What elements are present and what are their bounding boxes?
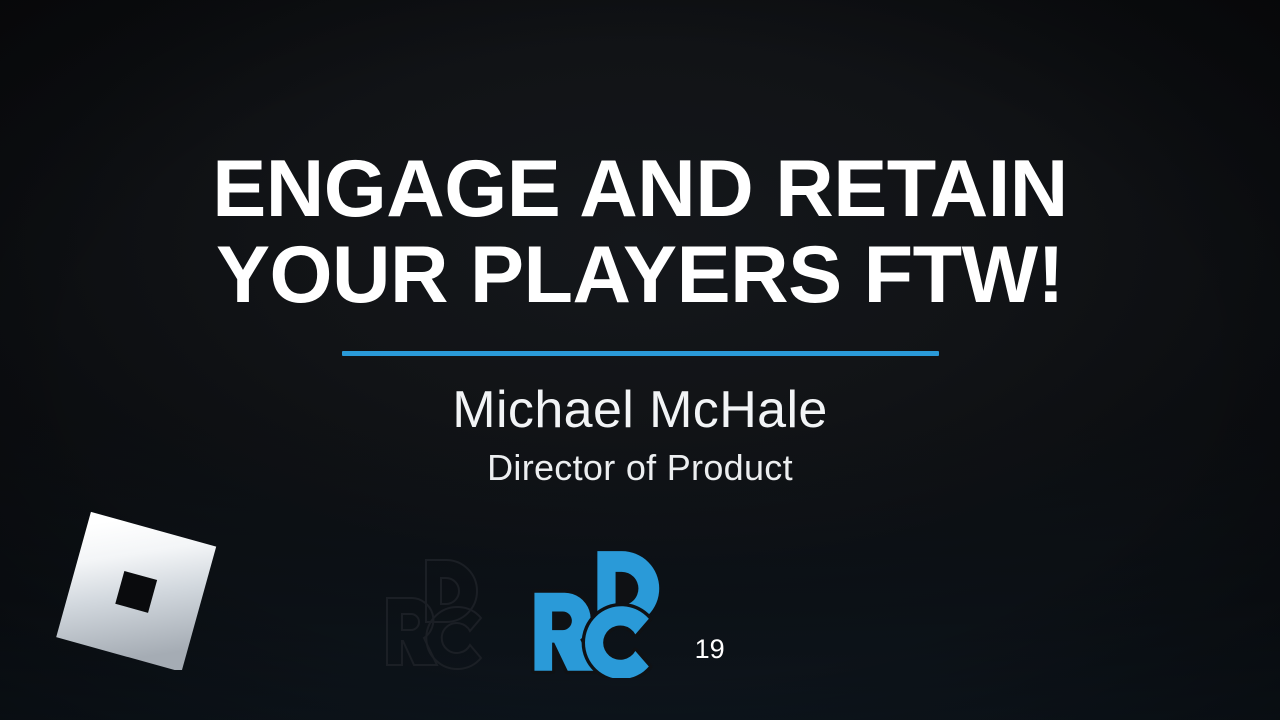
roblox-logo (55, 505, 220, 670)
title-line-2: YOUR PLAYERS FTW! (0, 232, 1280, 318)
title-line-1: ENGAGE AND RETAIN (0, 146, 1280, 232)
roblox-logo-icon (55, 505, 220, 670)
rdc-logo-ghost (378, 552, 503, 672)
title-divider (342, 351, 939, 356)
title-slide: ENGAGE AND RETAIN YOUR PLAYERS FTW! Mich… (0, 0, 1280, 720)
speaker-role: Director of Product (0, 445, 1280, 491)
rdc-logo: 19 (520, 548, 760, 678)
rdc-letter-c (585, 606, 649, 678)
speaker-info: Michael McHale Director of Product (0, 379, 1280, 491)
rdc-logo-year: 19 (695, 634, 725, 664)
slide-title: ENGAGE AND RETAIN YOUR PLAYERS FTW! (0, 146, 1280, 318)
title-divider-wrap (0, 351, 1280, 356)
rdc-logo-icon: 19 (520, 548, 760, 678)
rdc-logo-ghost-icon (378, 552, 503, 672)
speaker-name: Michael McHale (0, 379, 1280, 441)
